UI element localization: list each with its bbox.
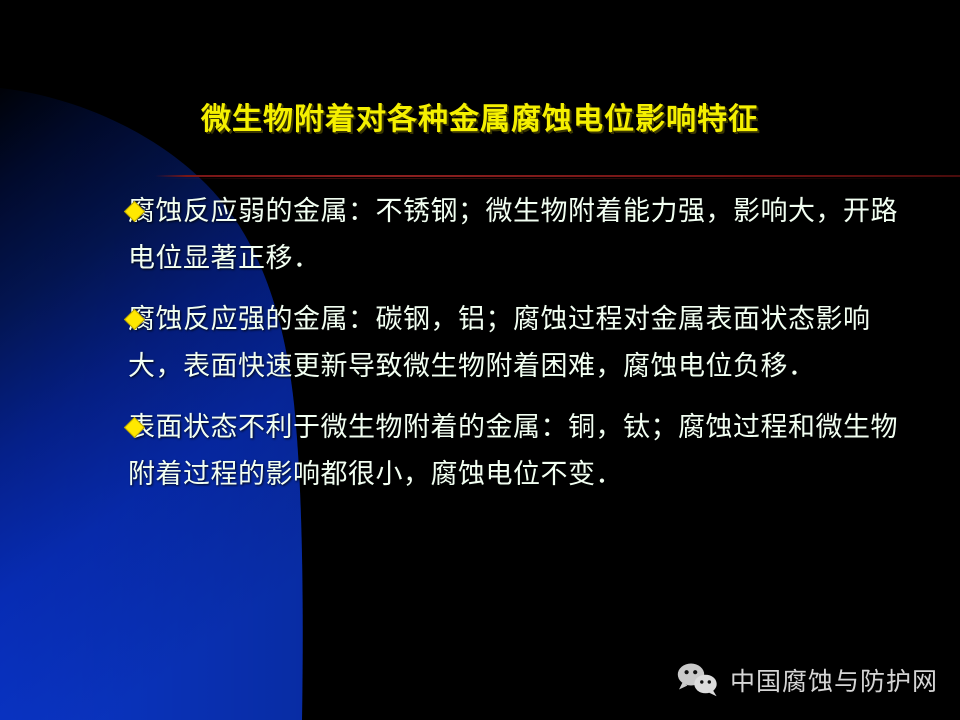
watermark: 中国腐蚀与防护网 xyxy=(676,662,938,698)
bullet-list: 腐蚀反应弱的金属：不锈钢；微生物附着能力强，影响大，开路电位显著正移． 腐蚀反应… xyxy=(0,188,960,512)
title-divider-glow xyxy=(155,178,960,179)
wechat-icon xyxy=(676,662,720,698)
list-item: 腐蚀反应强的金属：碳钢，铝；腐蚀过程对金属表面状态影响大，表面快速更新导致微生物… xyxy=(0,296,960,390)
list-item: 腐蚀反应弱的金属：不锈钢；微生物附着能力强，影响大，开路电位显著正移． xyxy=(0,188,960,282)
list-item: 表面状态不利于微生物附着的金属：铜，钛；腐蚀过程和微生物附着过程的影响都很小，腐… xyxy=(0,404,960,498)
page-title: 微生物附着对各种金属腐蚀电位影响特征 xyxy=(0,94,960,138)
list-item-text: 腐蚀反应强的金属：碳钢，铝；腐蚀过程对金属表面状态影响大，表面快速更新导致微生物… xyxy=(128,296,900,390)
slide-canvas: 微生物附着对各种金属腐蚀电位影响特征 腐蚀反应弱的金属：不锈钢；微生物附着能力强… xyxy=(0,0,960,720)
watermark-text: 中国腐蚀与防护网 xyxy=(730,662,938,698)
list-item-text: 腐蚀反应弱的金属：不锈钢；微生物附着能力强，影响大，开路电位显著正移． xyxy=(128,188,900,282)
title-divider xyxy=(155,175,960,177)
list-item-text: 表面状态不利于微生物附着的金属：铜，钛；腐蚀过程和微生物附着过程的影响都很小，腐… xyxy=(128,404,900,498)
